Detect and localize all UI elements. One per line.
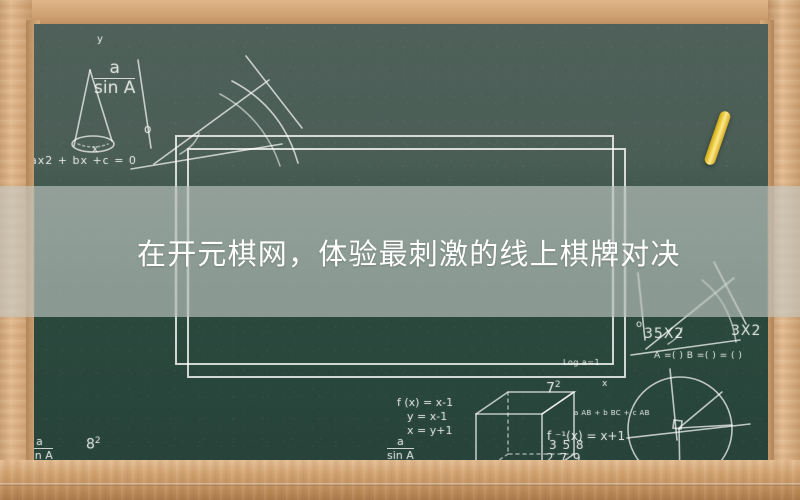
chalk-axis-label-x-3: x [602, 379, 607, 389]
chalk-function-fx: f (x) = x-1 [397, 396, 453, 409]
axes-diagram-left [131, 56, 302, 169]
chalk-seven-squared: 72 [546, 380, 561, 397]
chalk-inverse-function: f ⁻¹(x) = x+1 [547, 429, 625, 443]
chalk-angle-label-o-2: o [636, 319, 642, 330]
chalk-fraction-a-sinA-3: a sin A [34, 436, 53, 461]
cube-drawing [476, 392, 574, 462]
seven-exponent: 2 [555, 380, 561, 390]
fraction-numerator: a [94, 60, 135, 78]
chalk-long-division-row1: 3 5 8 [549, 438, 585, 452]
chalk-matrix-row: A =( ) B =( ) = ( ) [654, 351, 742, 361]
chalk-fraction-a-sinA-1: a sin A [94, 60, 135, 98]
chalk-quadratic-equation: ax2 + bx +c = 0 [34, 154, 137, 167]
seven-base: 7 [546, 381, 555, 397]
chalk-fraction-a-sinA-2: a sin A [387, 436, 414, 461]
chalk-eight-squared: 82 [86, 436, 101, 453]
chalk-expression-log-a1: Log a=1 [563, 358, 600, 367]
chalk-ledge-lip [0, 483, 800, 486]
eight-exponent: 2 [95, 436, 101, 446]
chalk-vector-sum: a AB + b BC + c AB [574, 409, 650, 417]
chalk-expression-3x2: 3X2 [731, 323, 761, 339]
chalk-equation-y: y = x-1 [407, 410, 447, 423]
chalk-stick-yellow-top [703, 110, 732, 167]
eight-base: 8 [86, 437, 95, 453]
fraction-denominator: sin A [94, 78, 135, 98]
chalk-axis-label-y-1: y [97, 34, 103, 45]
fraction-numerator: a [387, 436, 414, 448]
chalk-ledge [0, 460, 800, 500]
chalk-equation-x: x = y+1 [407, 424, 452, 437]
chalk-angle-label-o-1: o [144, 122, 151, 136]
frame-top-rail [0, 0, 800, 26]
circle-diagram [627, 369, 750, 462]
chalk-expression-35x2: 35X2 [644, 326, 684, 342]
cone-drawing [72, 70, 114, 152]
cube-drawing-right [675, 429, 731, 462]
banner-canvas: a sin A ax2 + bx +c = 0 y x o y o 35X2 3… [0, 0, 800, 500]
page-title: 在开元棋网，体验最刺激的线上棋牌对决 [0, 186, 800, 317]
chalk-axis-label-x-1: x [92, 144, 98, 155]
fraction-numerator: a [34, 436, 53, 448]
